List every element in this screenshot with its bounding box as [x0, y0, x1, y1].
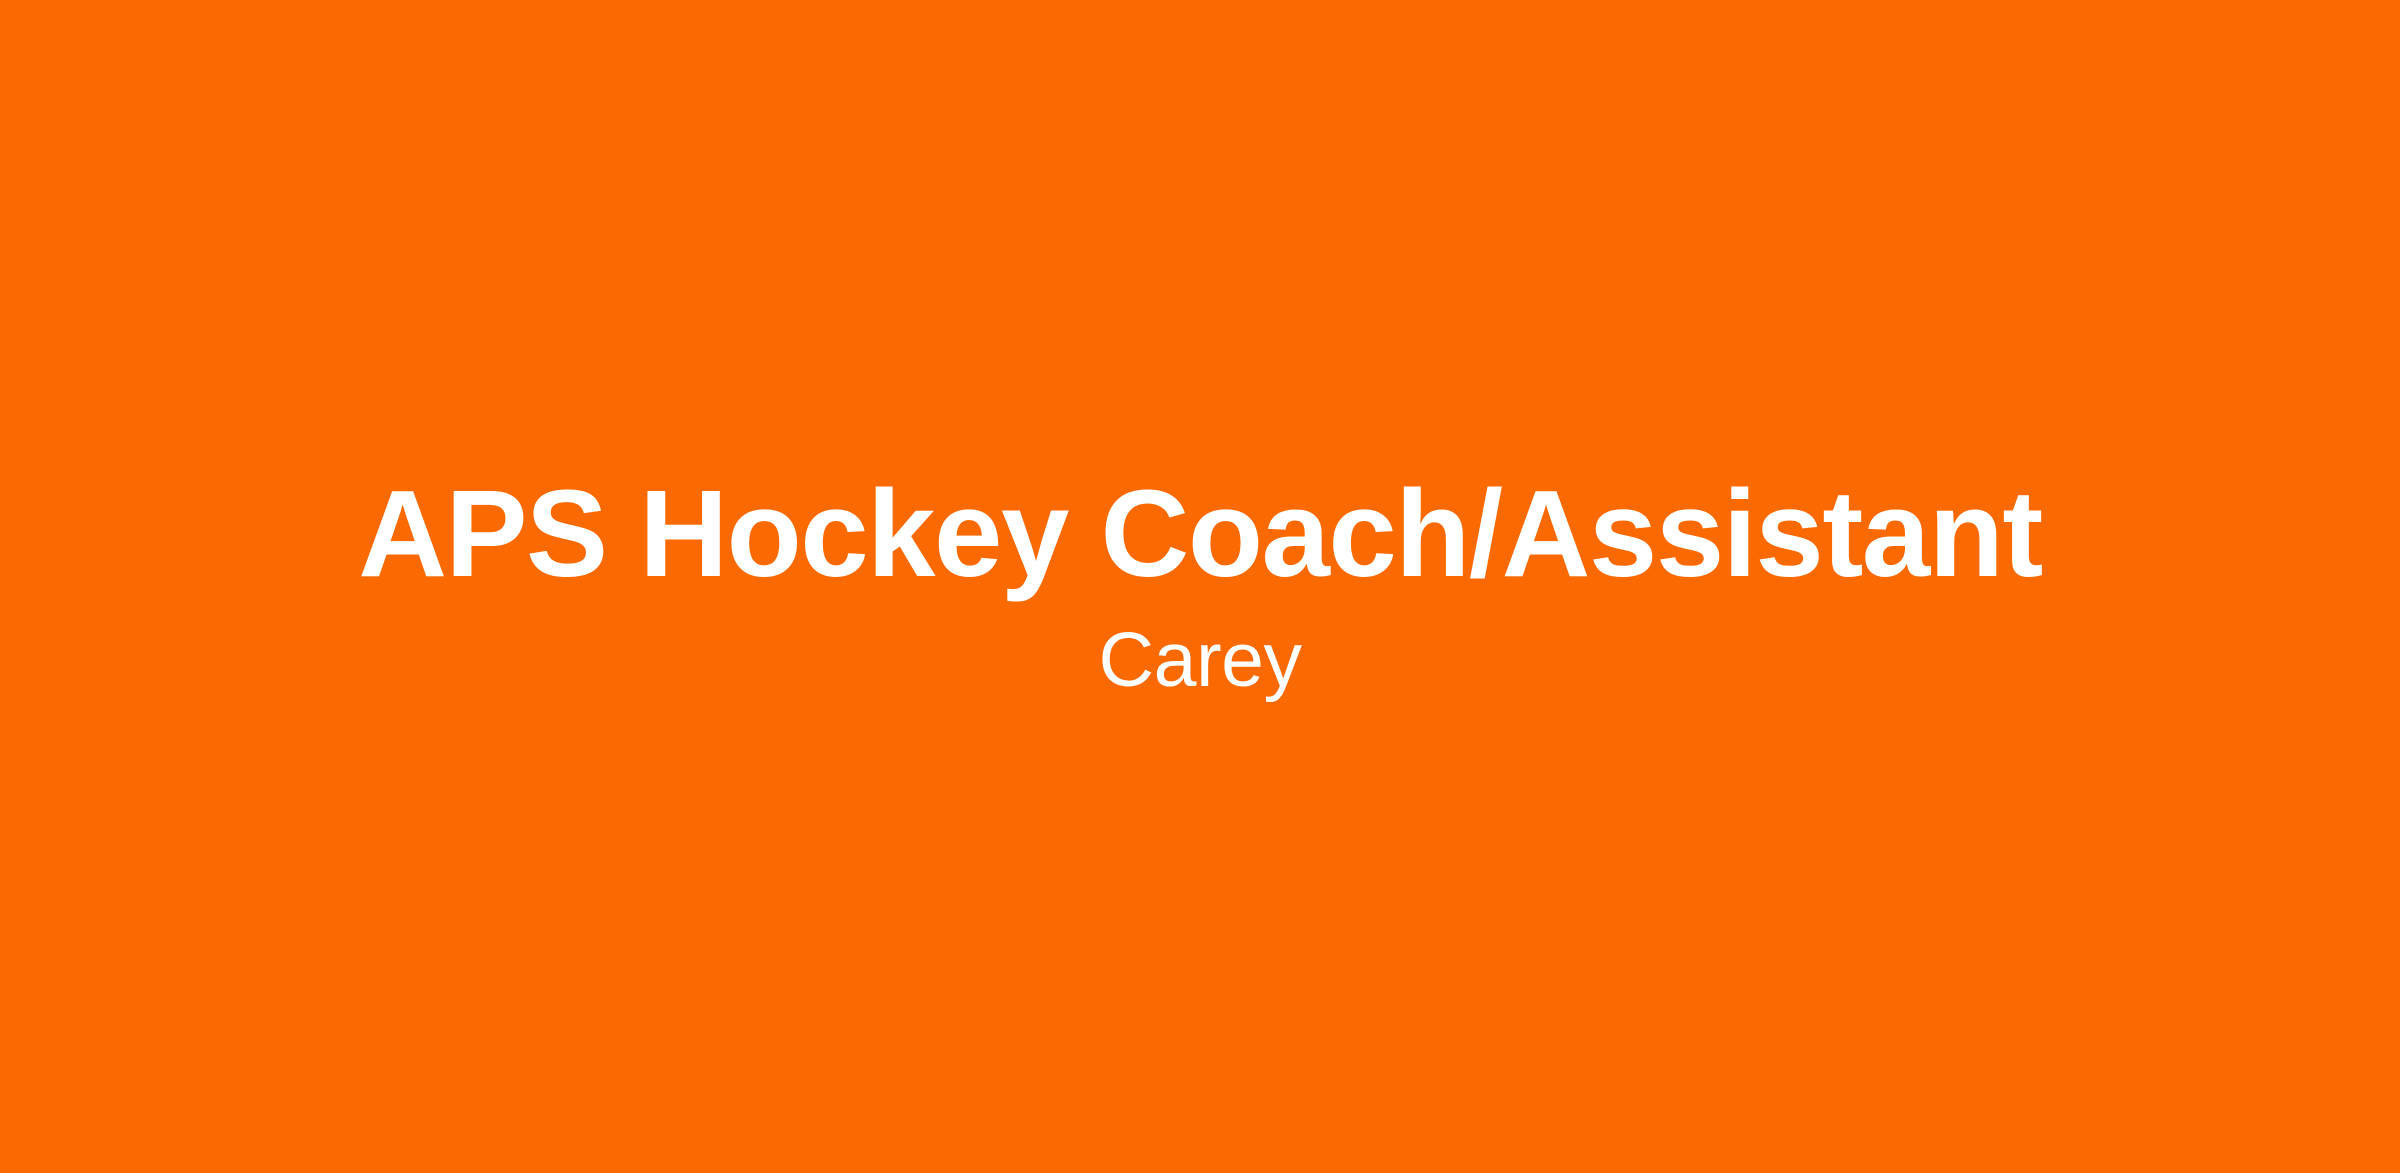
slide-canvas: APS Hockey Coach/Assistant Carey	[0, 0, 2400, 1173]
page-subtitle: Carey	[1099, 618, 1302, 703]
title-block: APS Hockey Coach/Assistant Carey	[0, 0, 2400, 1173]
page-title: APS Hockey Coach/Assistant	[358, 470, 2042, 600]
